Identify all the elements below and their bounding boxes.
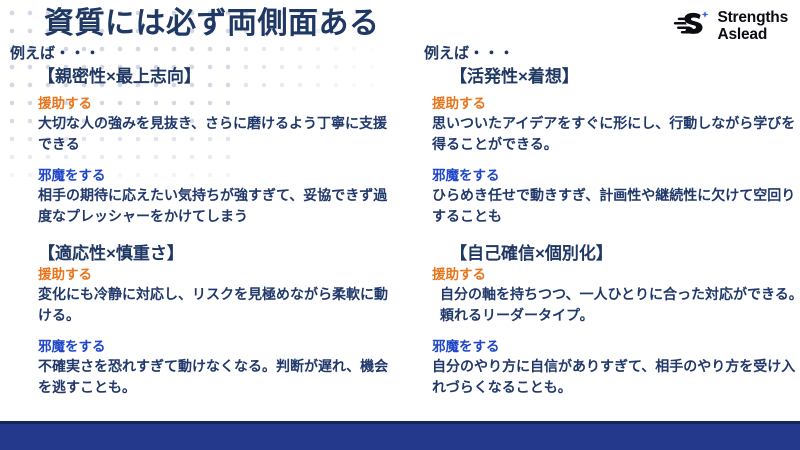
left-section-0-block-label: 邪魔をする [38, 167, 395, 185]
left-section-1-block-label: 邪魔をする [38, 338, 395, 356]
sparkle-icon [702, 11, 709, 18]
right-section-0-block-label: 邪魔をする [432, 167, 800, 185]
left-section-1-block-text: 不確実さを恐れすぎて動けなくなる。判断が遅れ、機会を逃すことも。 [38, 356, 395, 397]
spacer [10, 226, 395, 242]
right-section-1-block-label: 邪魔をする [432, 338, 800, 356]
spacer [424, 226, 800, 242]
spacer [424, 325, 800, 338]
right-section-0-help-label: 援助する [432, 95, 800, 113]
right-section-1-help-text: 自分の軸を持ちつつ、一人ひとりに合った対応ができる。頼れるリーダータイプ。 [432, 284, 800, 325]
right-section-1-help-label: 援助する [432, 266, 800, 284]
right-section-1-help-block: 援助する 自分の軸を持ちつつ、一人ひとりに合った対応ができる。頼れるリーダータイ… [432, 266, 800, 325]
right-section-0-block-block: 邪魔をする ひらめき任せで動きすぎ、計画性や継続性に欠けて空回りすることも [432, 167, 800, 226]
left-section-0-heading: 【親密性×最上志向】 [38, 65, 395, 89]
right-section-0-help-text: 思いついたアイデアをすぐに形にし、行動しながら学びを得ることができる。 [432, 113, 800, 154]
logo-wordmark-line1: Strengths [717, 9, 788, 26]
right-example-label: 例えば・・・ [424, 44, 800, 64]
left-example-label: 例えば・・・ [10, 44, 395, 64]
left-section-0-help-text: 大切な人の強みを見抜き、さらに磨けるよう丁寧に支援できる [38, 113, 395, 154]
left-section-0-block-block: 邪魔をする 相手の期待に応えたい気持ちが強すぎて、妥協できず過度なプレッシャーを… [38, 167, 395, 226]
spacer [424, 154, 800, 167]
left-section-1-help-label: 援助する [38, 266, 395, 284]
left-section-0-block-text: 相手の期待に応えたい気持ちが強すぎて、妥協できず過度なプレッシャーをかけてしまう [38, 185, 395, 226]
spacer [10, 325, 395, 338]
right-section-0-heading: 【活発性×着想】 [450, 65, 800, 89]
left-section-0-help-block: 援助する 大切な人の強みを見抜き、さらに磨けるよう丁寧に支援できる [38, 95, 395, 154]
right-section-0-block-text: ひらめき任せで動きすぎ、計画性や継続性に欠けて空回りすることも [432, 185, 800, 226]
brand-logo: Strengths Aslead [672, 9, 788, 43]
left-column: 例えば・・・ 【親密性×最上志向】 援助する 大切な人の強みを見抜き、さらに磨け… [10, 44, 395, 397]
right-section-0-help-block: 援助する 思いついたアイデアをすぐに形にし、行動しながら学びを得ることができる。 [432, 95, 800, 154]
left-section-1-help-text: 変化にも冷静に対応し、リスクを見極めながら柔軟に動ける。 [38, 284, 395, 325]
left-section-1-help-block: 援助する 変化にも冷静に対応し、リスクを見極めながら柔軟に動ける。 [38, 266, 395, 325]
left-section-1-block-block: 邪魔をする 不確実さを恐れすぎて動けなくなる。判断が遅れ、機会を逃すことも。 [38, 338, 395, 397]
logo-wordmark-line2: Aslead [717, 26, 788, 43]
slide: 資質には必ず両側面ある Strengths Aslead 例えば・・・ 【親密性… [0, 0, 800, 450]
left-section-1-heading: 【適応性×慎重さ】 [38, 242, 395, 266]
footer-bar [0, 424, 800, 450]
right-section-1-heading: 【自己確信×個別化】 [450, 242, 800, 266]
right-column: 例えば・・・ 【活発性×着想】 援助する 思いついたアイデアをすぐに形にし、行動… [424, 44, 800, 397]
spacer [10, 154, 395, 167]
left-section-0-help-label: 援助する [38, 95, 395, 113]
page-title: 資質には必ず両側面ある [44, 4, 380, 44]
strengths-aslead-s-mark-icon [672, 10, 712, 42]
right-section-1-block-text: 自分のやり方に自信がありすぎて、相手のやり方を受け入れづらくなることも。 [432, 356, 800, 397]
logo-wordmark: Strengths Aslead [717, 9, 788, 43]
right-section-1-block-block: 邪魔をする 自分のやり方に自信がありすぎて、相手のやり方を受け入れづらくなること… [432, 338, 800, 397]
